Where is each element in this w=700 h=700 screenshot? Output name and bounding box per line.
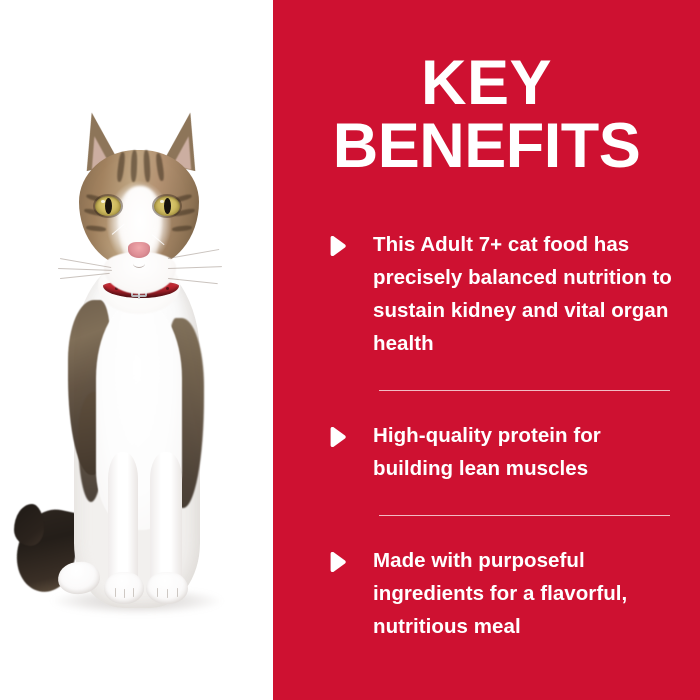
benefit-text: High-quality protein for building lean m…: [373, 419, 678, 485]
spacer: [328, 516, 678, 544]
spacer: [328, 391, 678, 419]
benefit-item: Made with purposeful ingredients for a f…: [328, 544, 678, 643]
spacer: [328, 360, 678, 390]
cat-tail-tip: [14, 504, 44, 546]
benefit-text: Made with purposeful ingredients for a f…: [373, 544, 678, 643]
cat-whisker: [168, 266, 222, 269]
cat-photo-panel: [0, 0, 273, 700]
cat-eye-left-rim: [93, 194, 123, 218]
cat-front-paw-right: [146, 572, 188, 604]
cat-illustration: [0, 0, 273, 700]
benefits-panel: KEY BENEFITS This Adult 7+ cat food has …: [273, 0, 700, 700]
cat-front-paw-left: [104, 572, 144, 604]
benefit-item: High-quality protein for building lean m…: [328, 419, 678, 485]
triangle-right-icon: [328, 236, 347, 256]
key-benefits-panel: KEY BENEFITS This Adult 7+ cat food has …: [0, 0, 700, 700]
page-title: KEY BENEFITS: [273, 52, 700, 178]
benefit-item: This Adult 7+ cat food has precisely bal…: [328, 228, 678, 360]
page-title-line-2: BENEFITS: [273, 115, 700, 178]
cat-mouth: [133, 259, 145, 268]
triangle-right-icon: [328, 427, 347, 447]
benefits-list: This Adult 7+ cat food has precisely bal…: [328, 228, 678, 643]
spacer: [328, 485, 678, 515]
cat-eye-right-rim: [152, 194, 182, 218]
benefit-text: This Adult 7+ cat food has precisely bal…: [373, 228, 678, 360]
page-title-line-1: KEY: [273, 52, 700, 115]
triangle-right-icon: [328, 552, 347, 572]
cat-nose: [128, 242, 150, 258]
